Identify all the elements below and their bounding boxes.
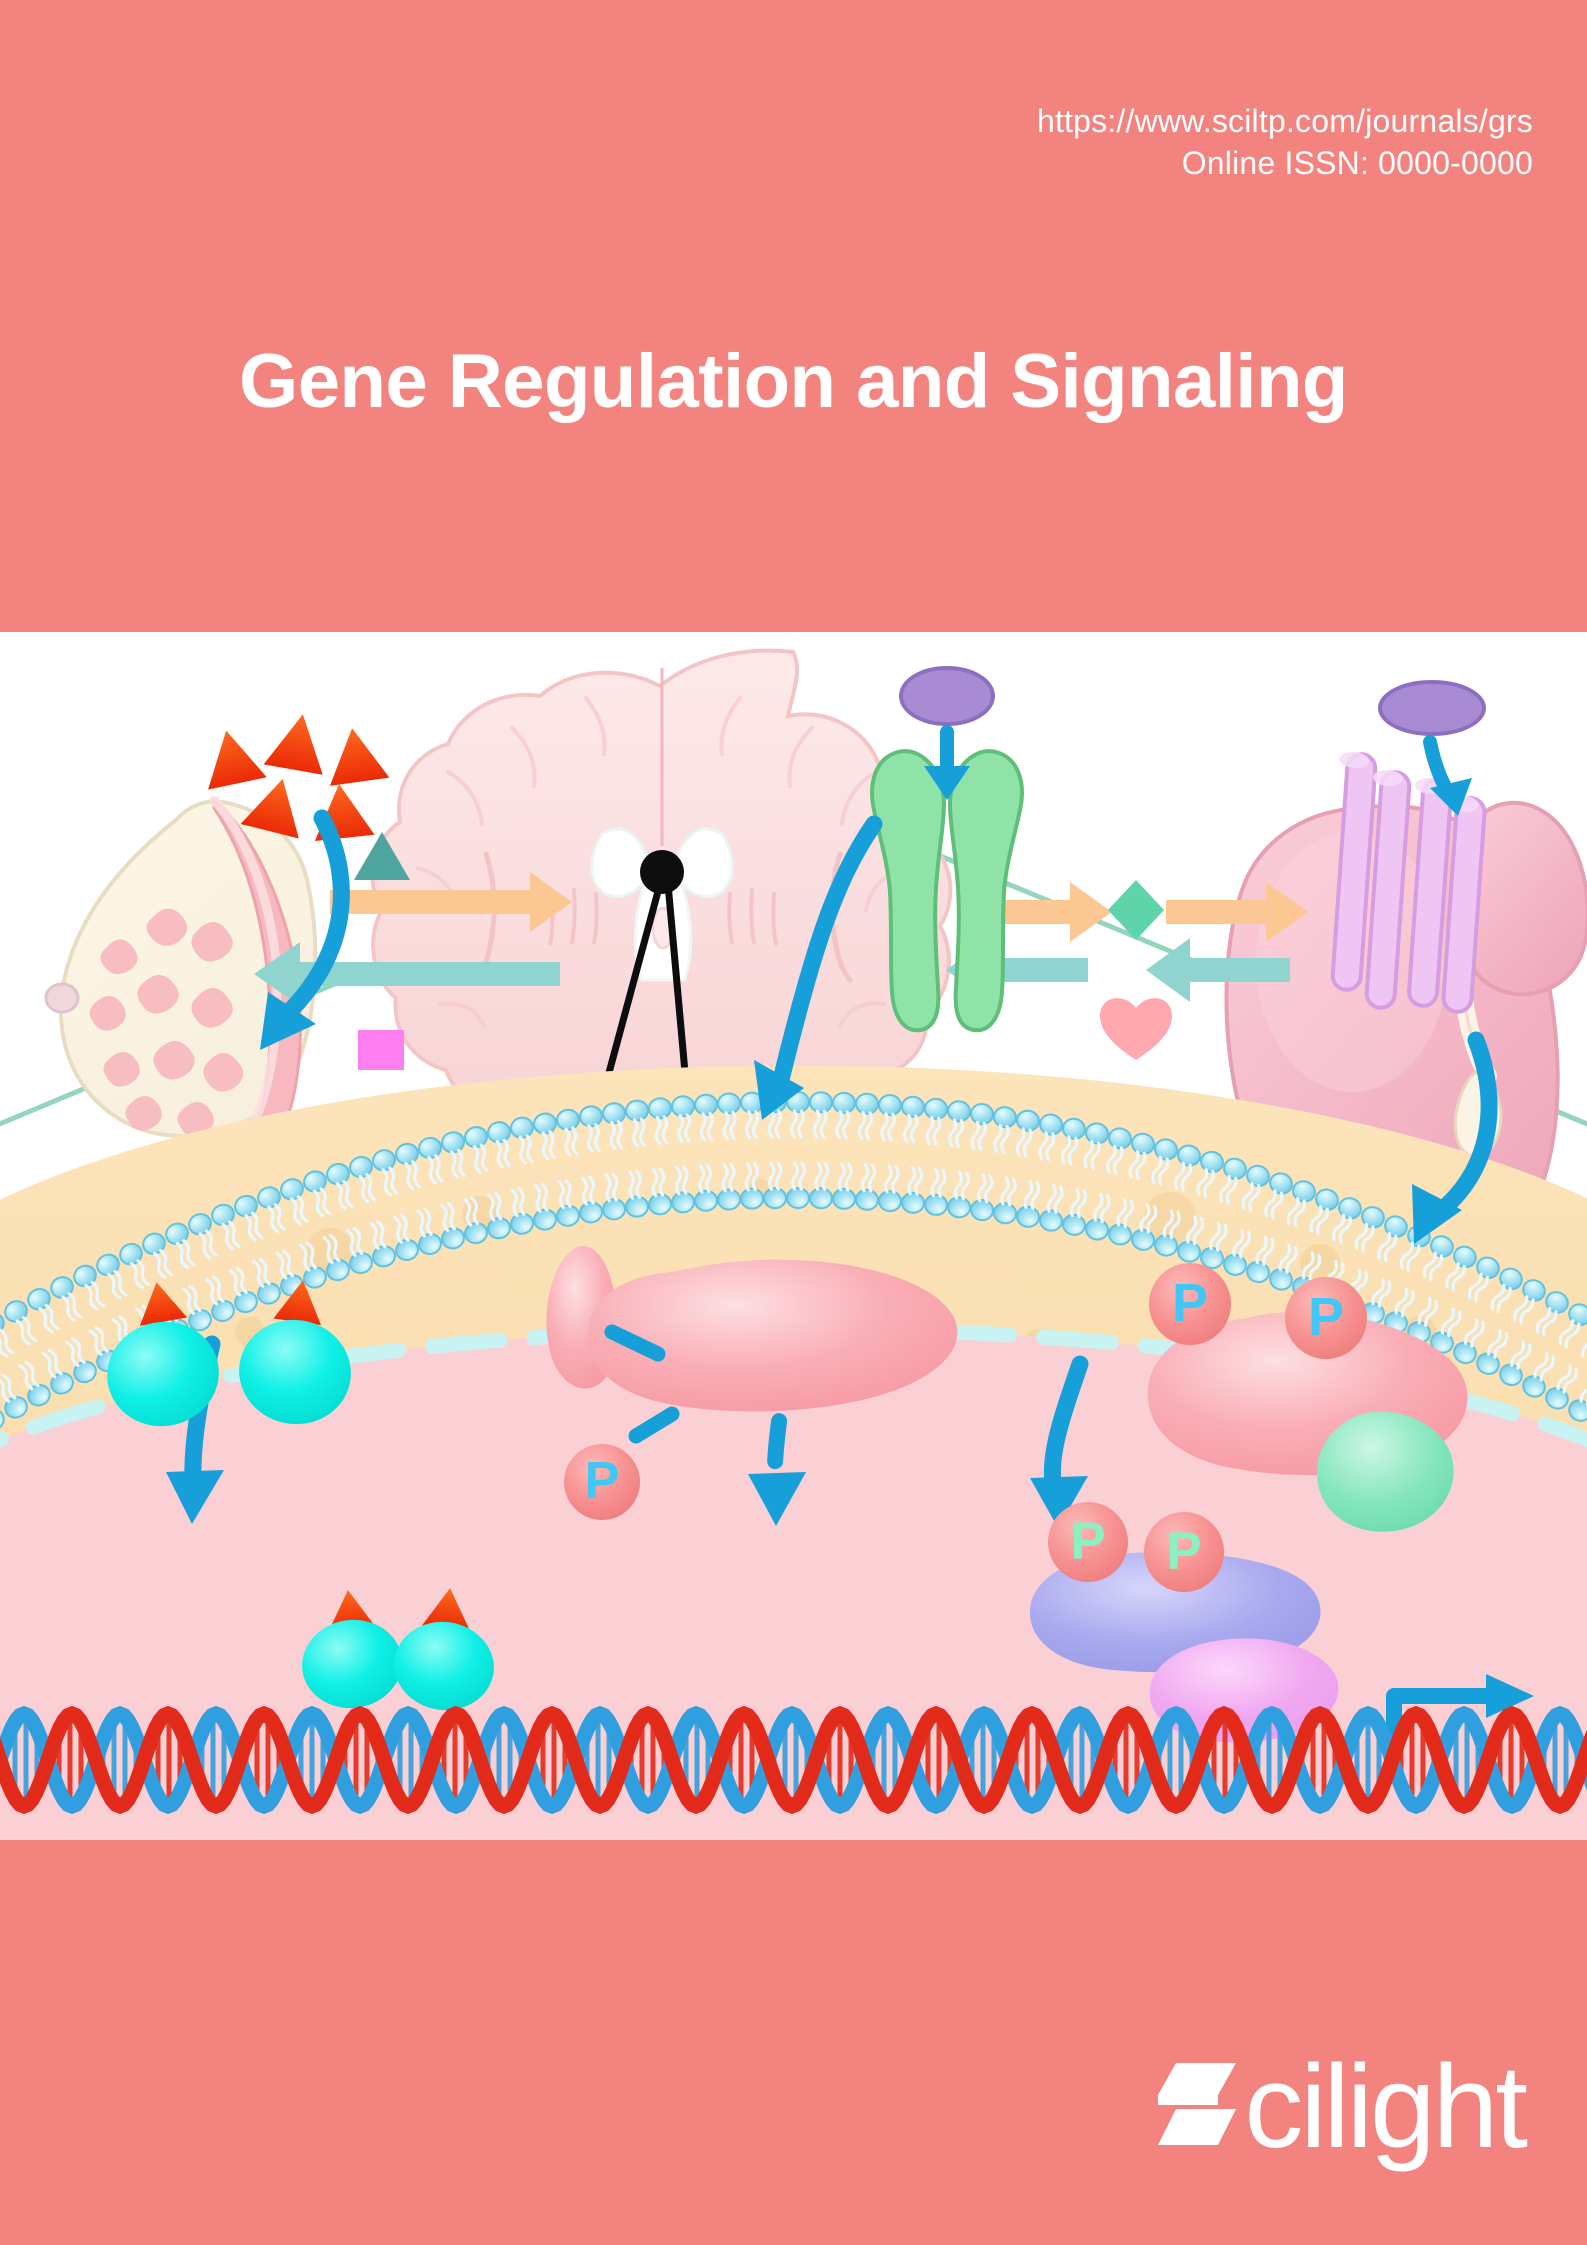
illustration-svg: P P P xyxy=(0,632,1587,1840)
brand-logo[interactable]: cilight xyxy=(1154,2055,1525,2159)
ligand-cytokine-right xyxy=(1380,682,1484,734)
phosphate-label: P xyxy=(1172,1273,1208,1333)
phosphate-badge-cytoplasm-3: P xyxy=(1285,1277,1367,1359)
phosphate-label: P xyxy=(585,1452,620,1510)
scilight-s-mark xyxy=(1154,2055,1240,2159)
phosphate-badge-nucleus-1: P xyxy=(1048,1502,1128,1582)
marker-square xyxy=(358,1030,404,1070)
brand-wordmark: cilight xyxy=(1244,2055,1525,2159)
ligand-cytokine-center xyxy=(901,668,993,724)
phosphate-badge-cytoplasm-1: P xyxy=(564,1444,640,1520)
footer-band: cilight xyxy=(0,1840,1587,2245)
phosphate-label: P xyxy=(1308,1287,1344,1347)
phosphate-label: P xyxy=(1166,1522,1201,1581)
journal-title: Gene Regulation and Signaling xyxy=(0,338,1587,425)
journal-cover: https://www.sciltp.com/journals/grs Onli… xyxy=(0,0,1587,2245)
journal-url[interactable]: https://www.sciltp.com/journals/grs xyxy=(1037,100,1533,142)
journal-issn: Online ISSN: 0000-0000 xyxy=(1037,142,1533,184)
cover-illustration: P P P xyxy=(0,632,1587,1840)
header-band: https://www.sciltp.com/journals/grs Onli… xyxy=(0,0,1587,632)
journal-url-block: https://www.sciltp.com/journals/grs Onli… xyxy=(1037,100,1533,184)
phosphate-badge-nucleus-2: P xyxy=(1144,1512,1224,1592)
phosphate-badge-cytoplasm-2: P xyxy=(1149,1263,1231,1345)
phosphate-label: P xyxy=(1070,1512,1105,1571)
